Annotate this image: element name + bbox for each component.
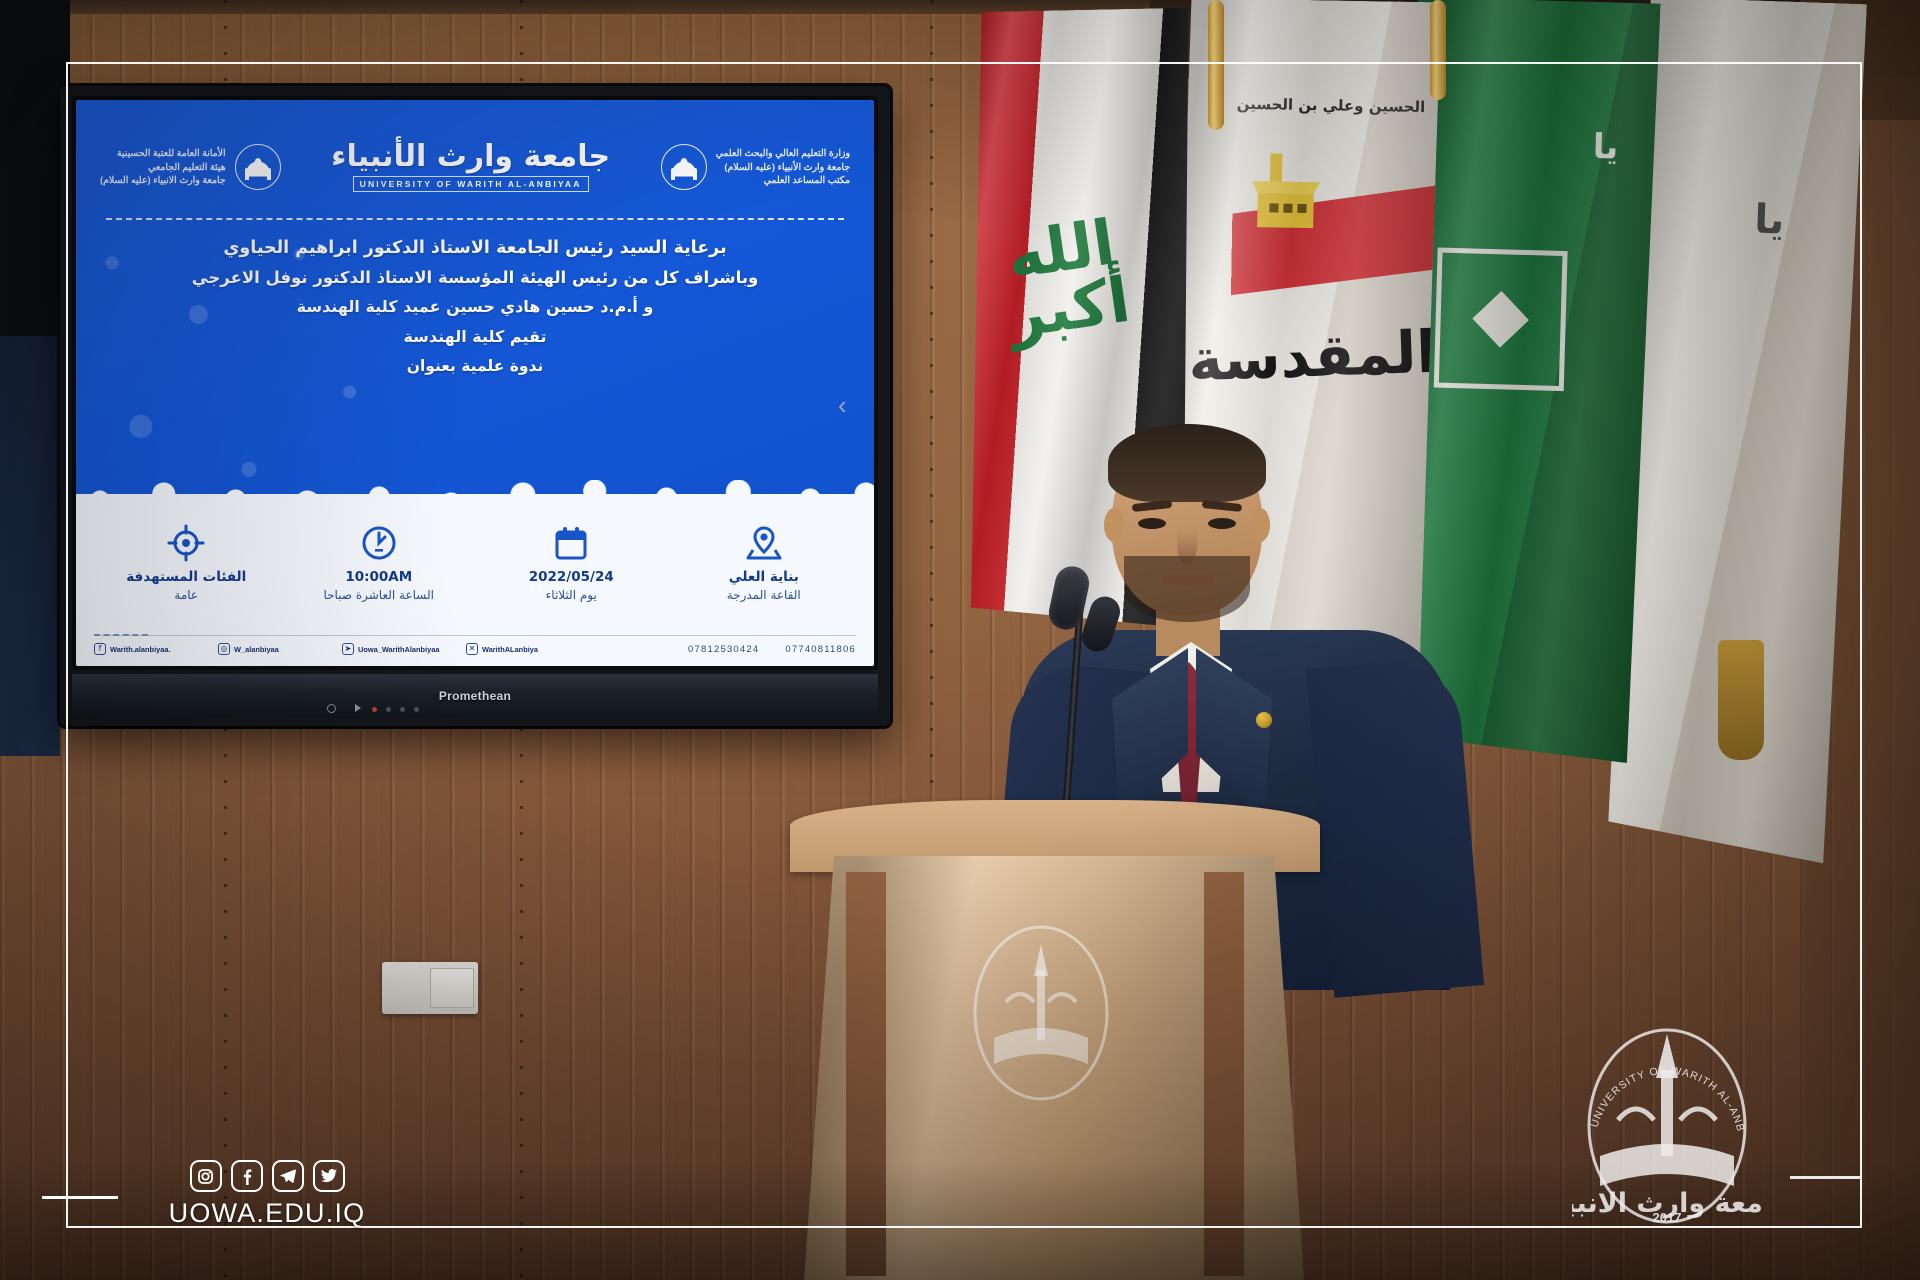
site-branding: UOWA.EDU.IQ [152,1160,382,1229]
instagram-icon[interactable] [190,1160,222,1192]
social-icons-row [152,1160,382,1192]
photo-scene: يا يا الحسين وعلي بن الحسين المقدسة الله… [0,0,1920,1280]
facebook-icon[interactable] [231,1160,263,1192]
telegram-icon[interactable] [272,1160,304,1192]
university-watermark-logo: UNIVERSITY OF WARITH AL-ANBIYAA جامعة وا… [1572,1022,1762,1228]
frame-tick-right [1790,1176,1860,1179]
frame-tick-left [42,1196,118,1199]
twitter-icon[interactable] [313,1160,345,1192]
watermark-year: 2017 [1653,1210,1682,1225]
website-url: UOWA.EDU.IQ [152,1198,382,1229]
